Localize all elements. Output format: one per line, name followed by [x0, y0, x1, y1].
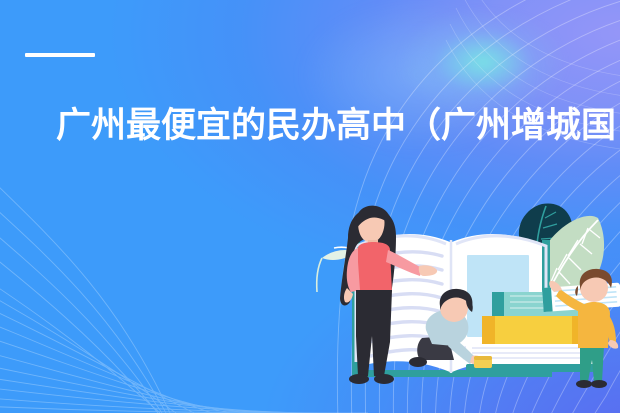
article-cover-banner: 广州最便宜的民办高中（广州增城国: [0, 0, 620, 413]
illustration-svg: [314, 196, 620, 413]
page-title: 广州最便宜的民办高中（广州增城国: [56, 104, 620, 148]
background-cyan-glow: [398, 8, 568, 116]
title-accent-rule: [25, 53, 95, 57]
cover-illustration: [314, 196, 620, 413]
